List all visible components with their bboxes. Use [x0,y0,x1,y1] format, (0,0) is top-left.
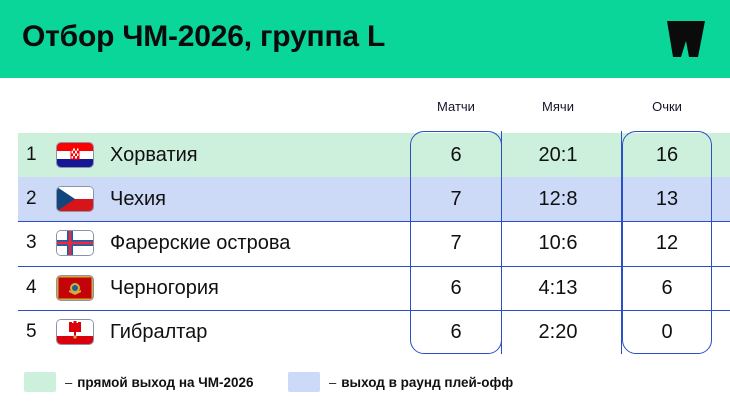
row-points: 6 [622,266,712,310]
row-goals: 2:20 [508,310,608,354]
row-rank: 1 [26,133,52,177]
table-row[interactable]: 1 Хорватия 6 2 [18,133,730,177]
table-row[interactable]: 4 Черногория 6 4:13 6 [18,266,730,310]
legend-item-direct: –прямой выход на ЧМ-2026 [24,372,254,394]
row-goals: 20:1 [508,133,608,177]
column-header-points: Очки [622,99,712,114]
column-headers: Матчи Мячи Очки [0,99,730,123]
row-goals: 12:8 [508,177,608,221]
row-matches: 7 [410,221,502,265]
row-goals: 4:13 [508,266,608,310]
column-header-goals: Мячи [508,99,608,114]
legend-item-playoff: –выход в раунд плей-офф [288,372,513,394]
legend-label-direct: прямой выход на ЧМ-2026 [77,375,253,390]
legend-swatch-green [24,372,56,392]
table-row[interactable]: 2 Чехия 7 12:8 13 [18,177,730,221]
column-header-matches: Матчи [410,99,502,114]
row-rank: 3 [26,221,52,265]
table-row[interactable]: 3 Фарерские острова 7 10:6 12 [18,221,730,265]
table-row[interactable]: 5 Гибралтар 6 2:20 0 [18,310,730,354]
row-rank: 5 [26,310,52,354]
column-divider-goals [501,131,502,354]
row-team-name: Фарерские острова [110,221,290,265]
row-points: 0 [622,310,712,354]
row-matches: 6 [410,133,502,177]
row-points: 13 [622,177,712,221]
standings-table: 1 Хорватия 6 2 [18,133,730,354]
row-goals: 10:6 [508,221,608,265]
row-points: 16 [622,133,712,177]
legend-swatch-blue [288,372,320,392]
row-points: 12 [622,221,712,265]
row-team-name: Гибралтар [110,310,207,354]
row-team-name: Хорватия [110,133,198,177]
montenegro-flag-icon [56,275,94,301]
row-team-name: Чехия [110,177,166,221]
gibraltar-flag-icon [56,319,94,345]
faroe-islands-flag-icon [56,230,94,256]
legend-dash: – [329,375,336,390]
row-matches: 7 [410,177,502,221]
row-matches: 6 [410,266,502,310]
page-title: Отбор ЧМ-2026, группа L [22,20,385,54]
croatia-flag-icon [56,142,94,168]
legend-label-playoff: выход в раунд плей-офф [341,375,513,390]
brand-logo-w-icon [665,19,707,59]
czechia-flag-icon [56,186,94,212]
row-rank: 2 [26,177,52,221]
page-header: Отбор ЧМ-2026, группа L [0,0,730,78]
row-matches: 6 [410,310,502,354]
legend-dash: – [65,375,72,390]
row-rank: 4 [26,266,52,310]
row-team-name: Черногория [110,266,219,310]
column-divider-points [621,131,622,354]
